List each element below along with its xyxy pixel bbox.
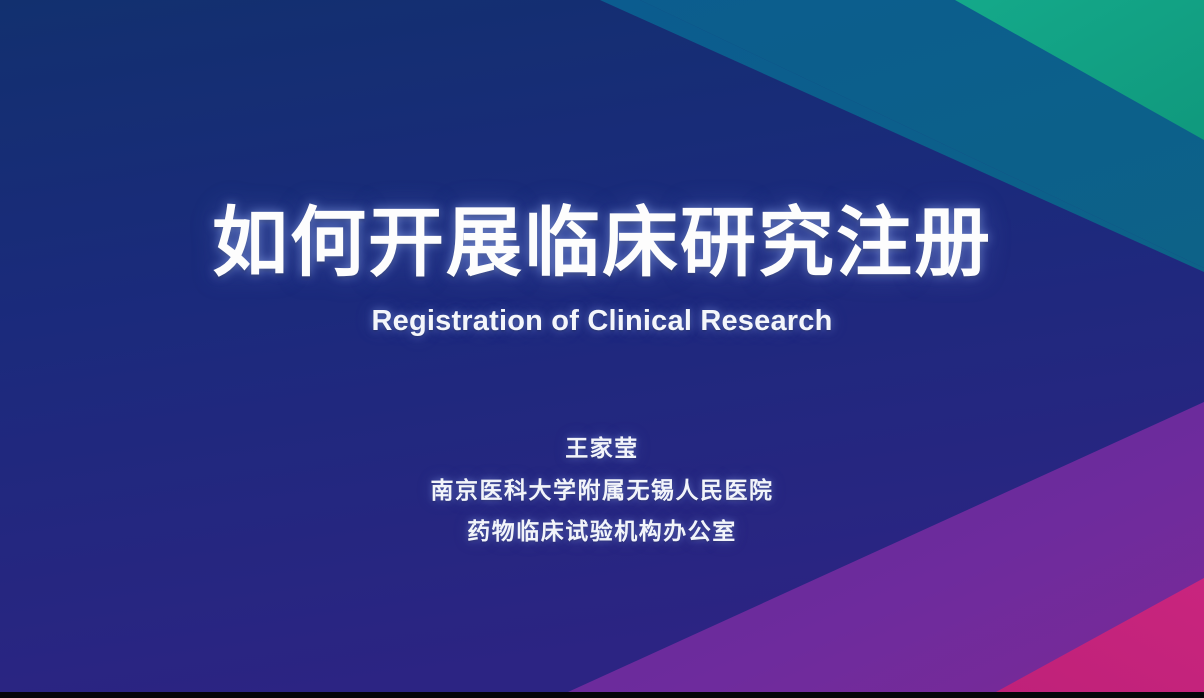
presenter-organization: 南京医科大学附属无锡人民医院 — [0, 470, 1204, 511]
presentation-slide: 如何开展临床研究注册 Registration of Clinical Rese… — [0, 0, 1204, 698]
presenter-department: 药物临床试验机构办公室 — [0, 511, 1204, 552]
presenter-name: 王家莹 — [0, 428, 1204, 469]
bottom-letterbox-bar — [0, 692, 1204, 698]
page-title: 如何开展临床研究注册 — [0, 196, 1204, 292]
slide-text-layer: 如何开展临床研究注册 Registration of Clinical Rese… — [0, 0, 1204, 698]
page-subtitle: Registration of Clinical Research — [0, 303, 1204, 339]
